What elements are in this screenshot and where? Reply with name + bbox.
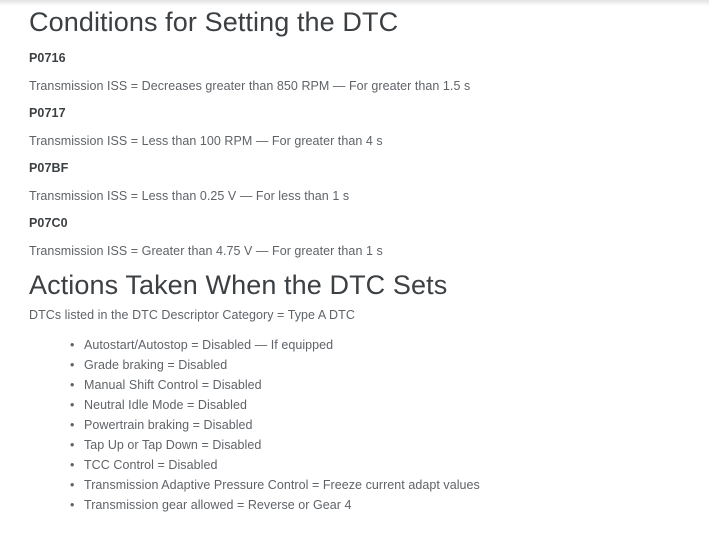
dtc-descriptor-category-text: DTCs listed in the DTC Descriptor Catego… [29, 302, 695, 323]
list-item: Powertrain braking = Disabled [70, 415, 695, 435]
actions-taken-list: Autostart/Autostop = Disabled — If equip… [29, 323, 695, 515]
dtc-entry: P0717 Transmission ISS = Less than 100 R… [29, 94, 695, 149]
list-item: Autostart/Autostop = Disabled — If equip… [70, 335, 695, 355]
heading-conditions-for-setting-the-dtc: Conditions for Setting the DTC [29, 0, 695, 39]
dtc-condition-text: Transmission ISS = Less than 100 RPM — F… [29, 121, 695, 149]
dtc-entry: P07BF Transmission ISS = Less than 0.25 … [29, 149, 695, 204]
list-item: TCC Control = Disabled [70, 455, 695, 475]
dtc-code-label: P07BF [29, 149, 695, 176]
dtc-code-label: P0717 [29, 94, 695, 121]
list-item: Transmission Adaptive Pressure Control =… [70, 475, 695, 495]
document-content: Conditions for Setting the DTC P0716 Tra… [0, 0, 709, 515]
heading-actions-taken-when-the-dtc-sets: Actions Taken When the DTC Sets [29, 259, 695, 302]
dtc-condition-text: Transmission ISS = Decreases greater tha… [29, 66, 695, 94]
list-item: Transmission gear allowed = Reverse or G… [70, 495, 695, 515]
list-item: Tap Up or Tap Down = Disabled [70, 435, 695, 455]
dtc-condition-text: Transmission ISS = Greater than 4.75 V —… [29, 231, 695, 259]
dtc-code-label: P0716 [29, 39, 695, 66]
list-item: Neutral Idle Mode = Disabled [70, 395, 695, 415]
dtc-code-label: P07C0 [29, 204, 695, 231]
dtc-condition-text: Transmission ISS = Less than 0.25 V — Fo… [29, 176, 695, 204]
list-item: Manual Shift Control = Disabled [70, 375, 695, 395]
document-page: Conditions for Setting the DTC P0716 Tra… [0, 0, 709, 515]
list-item: Grade braking = Disabled [70, 355, 695, 375]
dtc-entry: P07C0 Transmission ISS = Greater than 4.… [29, 204, 695, 259]
dtc-entry: P0716 Transmission ISS = Decreases great… [29, 39, 695, 94]
